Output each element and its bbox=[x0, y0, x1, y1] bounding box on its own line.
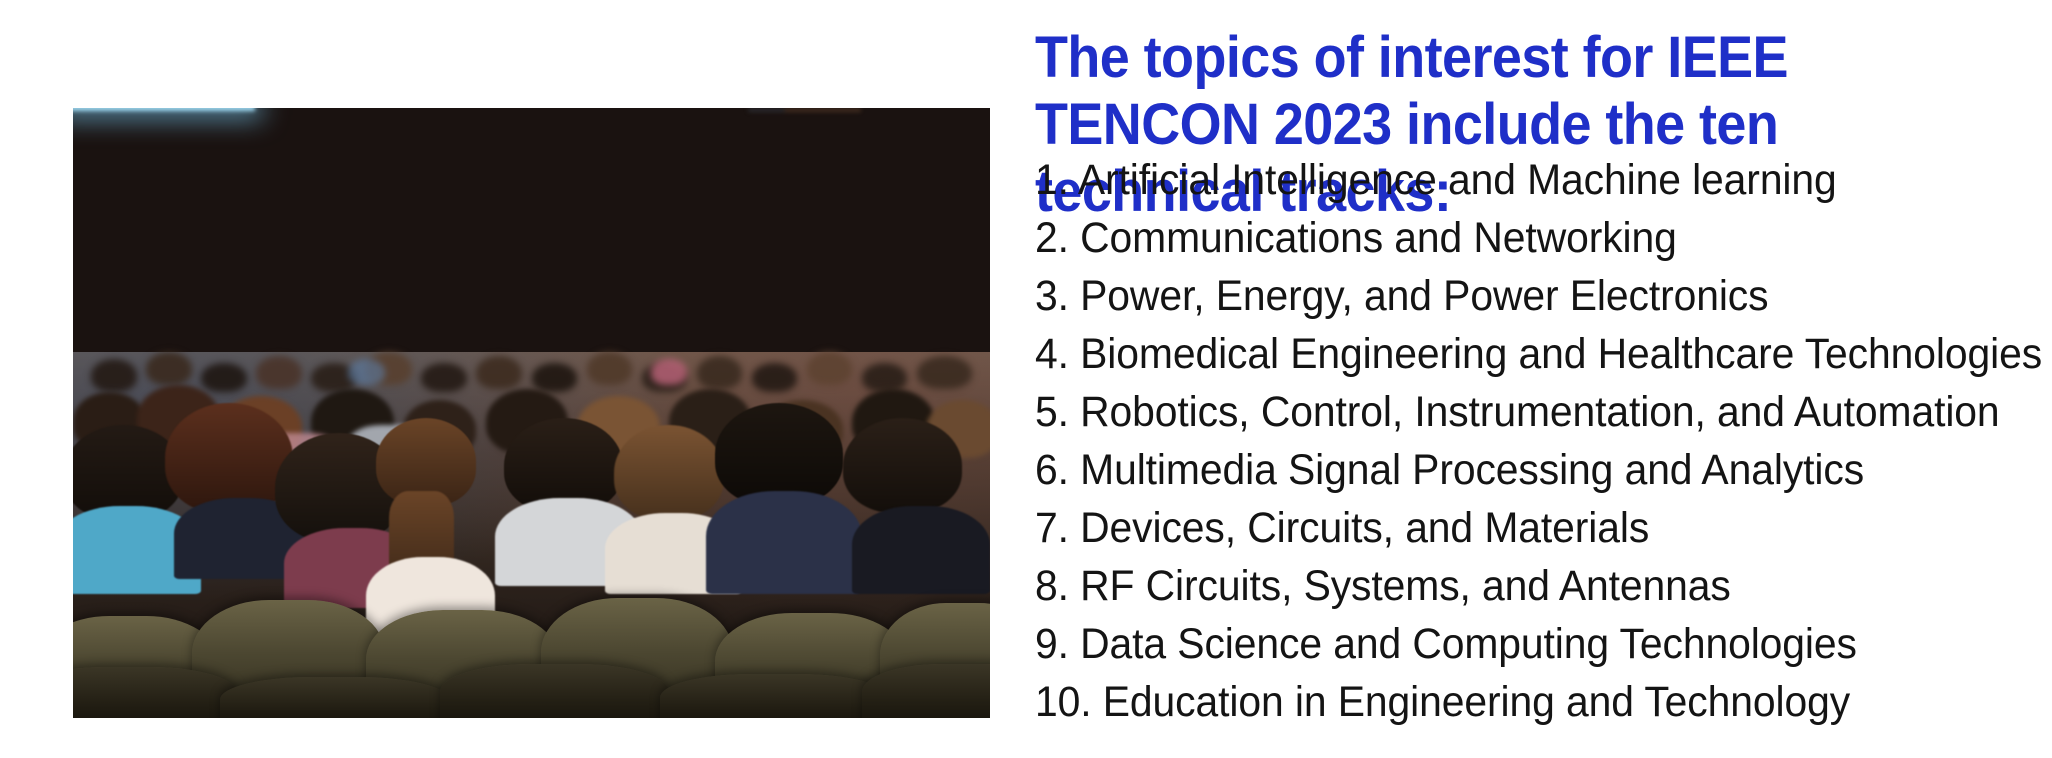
auditorium-chairs bbox=[73, 462, 990, 718]
list-item: 8. RF Circuits, Systems, and Antennas bbox=[1035, 564, 1995, 608]
flip-chart-leg-right bbox=[559, 108, 566, 109]
slide-root: The topics of interest for IEEE TENCON 2… bbox=[0, 0, 2052, 758]
list-item: 5. Robotics, Control, Instrumentation, a… bbox=[1035, 390, 1995, 434]
photo-canvas bbox=[73, 108, 990, 718]
list-item: 10. Education in Engineering and Technol… bbox=[1035, 680, 1995, 724]
list-item: 2. Communications and Networking bbox=[1035, 216, 1995, 260]
side-table-monitor bbox=[748, 108, 785, 112]
list-item: 3. Power, Energy, and Power Electronics bbox=[1035, 274, 1995, 318]
conference-photo bbox=[73, 108, 990, 718]
list-item: 4. Biomedical Engineering and Healthcare… bbox=[1035, 332, 1995, 376]
list-item: 1. Artificial Intelligence and Machine l… bbox=[1035, 158, 1995, 202]
list-item: 7. Devices, Circuits, and Materials bbox=[1035, 506, 1995, 550]
flip-chart-leg-left bbox=[490, 108, 497, 109]
text-column: The topics of interest for IEEE TENCON 2… bbox=[1035, 0, 2035, 758]
list-item: 9. Data Science and Computing Technologi… bbox=[1035, 622, 1995, 666]
list-item: 6. Multimedia Signal Processing and Anal… bbox=[1035, 448, 1995, 492]
technical-tracks-list: 1. Artificial Intelligence and Machine l… bbox=[1035, 158, 2045, 724]
